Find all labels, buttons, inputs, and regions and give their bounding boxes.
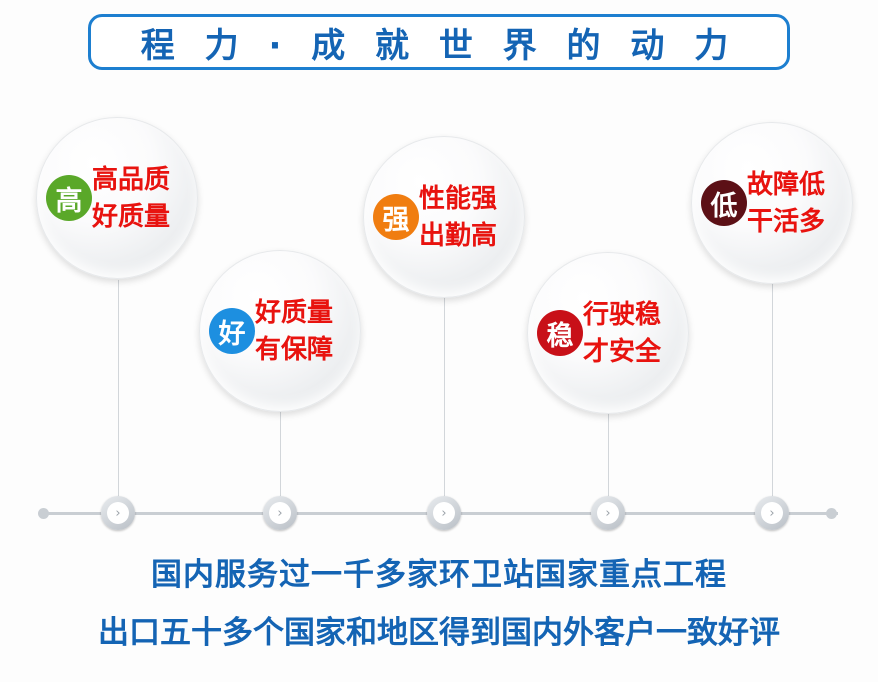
chevron-right-icon: › — [433, 502, 455, 524]
feature-badge-2: 好 — [209, 308, 255, 354]
feature-line-3a: 性能强 — [419, 181, 523, 218]
feature-line-2b: 有保障 — [255, 332, 359, 369]
footer-line-1: 国内服务过一千多家环卫站国家重点工程 — [0, 549, 878, 594]
feature-text-3: 性能强 出勤高 — [419, 181, 523, 255]
feature-badge-5: 低 — [701, 180, 747, 226]
feature-text-1: 高品质 好质量 — [92, 162, 196, 236]
feature-badge-4: 稳 — [537, 310, 583, 356]
feature-bubble-5[interactable]: 低 故障低 干活多 — [691, 122, 853, 284]
feature-line-5b: 干活多 — [747, 204, 851, 241]
chevron-right-icon: › — [761, 502, 783, 524]
header-banner: 程 力 · 成 就 世 界 的 动 力 — [88, 14, 790, 70]
connector-stem-5 — [772, 284, 773, 512]
feature-line-5a: 故障低 — [747, 167, 851, 204]
feature-bubble-3[interactable]: 强 性能强 出勤高 — [363, 136, 525, 298]
timeline-cap-right — [826, 508, 837, 519]
footer-line-2: 出口五十多个国家和地区得到国内外客户一致好评 — [0, 607, 878, 652]
feature-line-4a: 行驶稳 — [583, 297, 687, 334]
chevron-right-icon: › — [107, 502, 129, 524]
feature-line-1b: 好质量 — [92, 199, 196, 236]
feature-bubble-2[interactable]: 好 好质量 有保障 — [199, 250, 361, 412]
timeline-node-4[interactable]: › — [591, 496, 625, 530]
feature-line-2a: 好质量 — [255, 295, 359, 332]
feature-text-2: 好质量 有保障 — [255, 295, 359, 369]
timeline-cap-left — [38, 508, 49, 519]
feature-line-3b: 出勤高 — [419, 218, 523, 255]
timeline-node-1[interactable]: › — [101, 496, 135, 530]
timeline-node-5[interactable]: › — [755, 496, 789, 530]
feature-bubble-4[interactable]: 稳 行驶稳 才安全 — [527, 252, 689, 414]
connector-stem-3 — [444, 298, 445, 512]
feature-badge-1: 高 — [46, 175, 92, 221]
feature-badge-3: 强 — [373, 194, 419, 240]
chevron-right-icon: › — [269, 502, 291, 524]
chevron-right-icon: › — [597, 502, 619, 524]
timeline-node-3[interactable]: › — [427, 496, 461, 530]
poster-canvas: 程 力 · 成 就 世 界 的 动 力 › › › › › 高 高品质 好质量 … — [0, 0, 878, 682]
feature-line-1a: 高品质 — [92, 162, 196, 199]
connector-stem-1 — [118, 280, 119, 512]
feature-text-4: 行驶稳 才安全 — [583, 297, 687, 371]
page-title: 程 力 · 成 就 世 界 的 动 力 — [141, 18, 737, 67]
timeline-node-2[interactable]: › — [263, 496, 297, 530]
feature-bubble-1[interactable]: 高 高品质 好质量 — [36, 117, 198, 279]
feature-line-4b: 才安全 — [583, 334, 687, 371]
feature-text-5: 故障低 干活多 — [747, 167, 851, 241]
